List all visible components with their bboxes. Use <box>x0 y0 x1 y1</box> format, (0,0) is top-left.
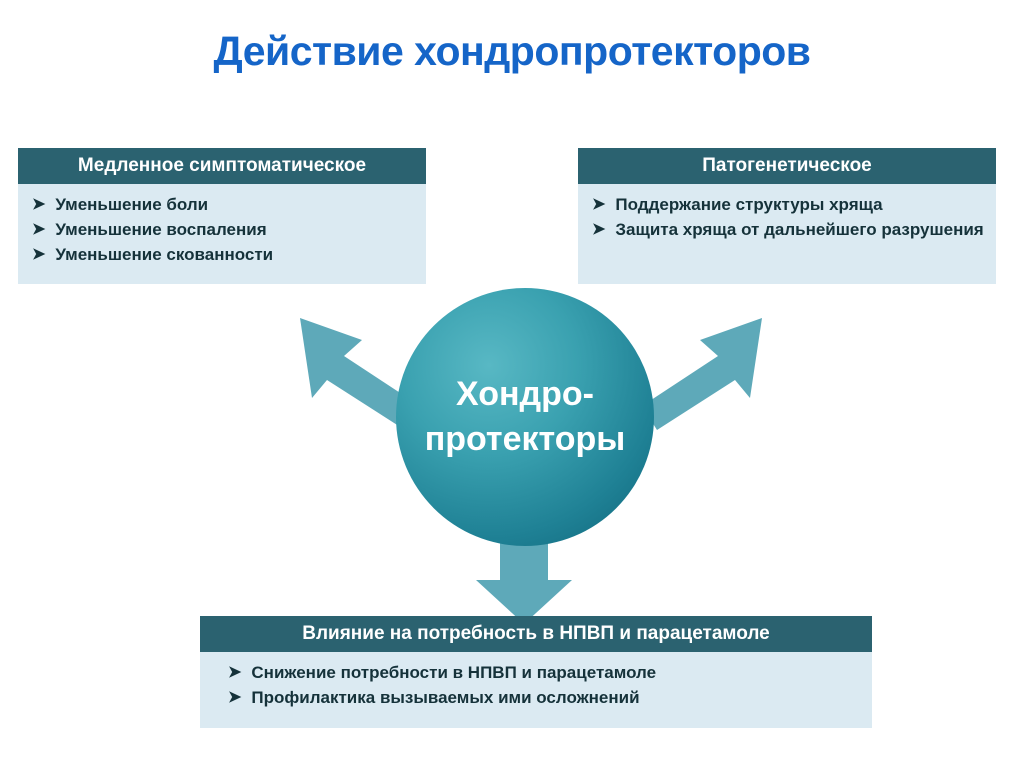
list-item: ➤ Профилактика вызываемых ими осложнений <box>214 685 872 710</box>
slide-canvas: Действие хондропротекторов Медленное сим… <box>0 0 1024 768</box>
list-item: ➤ Поддержание структуры хряща <box>578 192 996 217</box>
list-item: ➤ Уменьшение воспаления <box>18 217 426 242</box>
panel-right-header: Патогенетическое <box>578 148 996 184</box>
list-item-label: Уменьшение боли <box>55 193 420 216</box>
panel-left-header: Медленное симптоматическое <box>18 148 426 184</box>
bullet-arrow-icon: ➤ <box>32 243 45 266</box>
list-item-label: Уменьшение скованности <box>55 243 420 266</box>
center-node-chondroprotectors: Хондро- протекторы <box>396 288 654 546</box>
panel-slow-symptomatic: Медленное симптоматическое ➤ Уменьшение … <box>18 148 426 284</box>
list-item: ➤ Уменьшение боли <box>18 192 426 217</box>
list-item: ➤ Защита хряща от дальнейшего разрушения <box>578 217 996 242</box>
list-item: ➤ Снижение потребности в НПВП и парацета… <box>214 660 872 685</box>
list-item-label: Профилактика вызываемых ими осложнений <box>251 686 866 709</box>
bullet-arrow-icon: ➤ <box>228 661 241 684</box>
panel-right-body: ➤ Поддержание структуры хряща ➤ Защита х… <box>578 184 996 284</box>
bullet-arrow-icon: ➤ <box>592 218 605 241</box>
bullet-arrow-icon: ➤ <box>32 193 45 216</box>
arrow-up-right <box>642 318 762 430</box>
center-label-line1: Хондро- <box>456 372 594 417</box>
panel-bottom-header: Влияние на потребность в НПВП и парацета… <box>200 616 872 652</box>
list-item-label: Уменьшение воспаления <box>55 218 420 241</box>
center-label-line2: протекторы <box>425 417 626 462</box>
panel-bottom-body: ➤ Снижение потребности в НПВП и парацета… <box>200 652 872 728</box>
bullet-arrow-icon: ➤ <box>228 686 241 709</box>
list-item-label: Защита хряща от дальнейшего разрушения <box>615 218 990 241</box>
panel-pathogenetic: Патогенетическое ➤ Поддержание структуры… <box>578 148 996 284</box>
bullet-arrow-icon: ➤ <box>592 193 605 216</box>
panel-left-body: ➤ Уменьшение боли ➤ Уменьшение воспалени… <box>18 184 426 284</box>
list-item: ➤ Уменьшение скованности <box>18 242 426 267</box>
list-item-label: Поддержание структуры хряща <box>615 193 990 216</box>
page-title: Действие хондропротекторов <box>0 28 1024 75</box>
bullet-arrow-icon: ➤ <box>32 218 45 241</box>
panel-nsaid-need: Влияние на потребность в НПВП и парацета… <box>200 616 872 728</box>
list-item-label: Снижение потребности в НПВП и парацетамо… <box>251 661 866 684</box>
